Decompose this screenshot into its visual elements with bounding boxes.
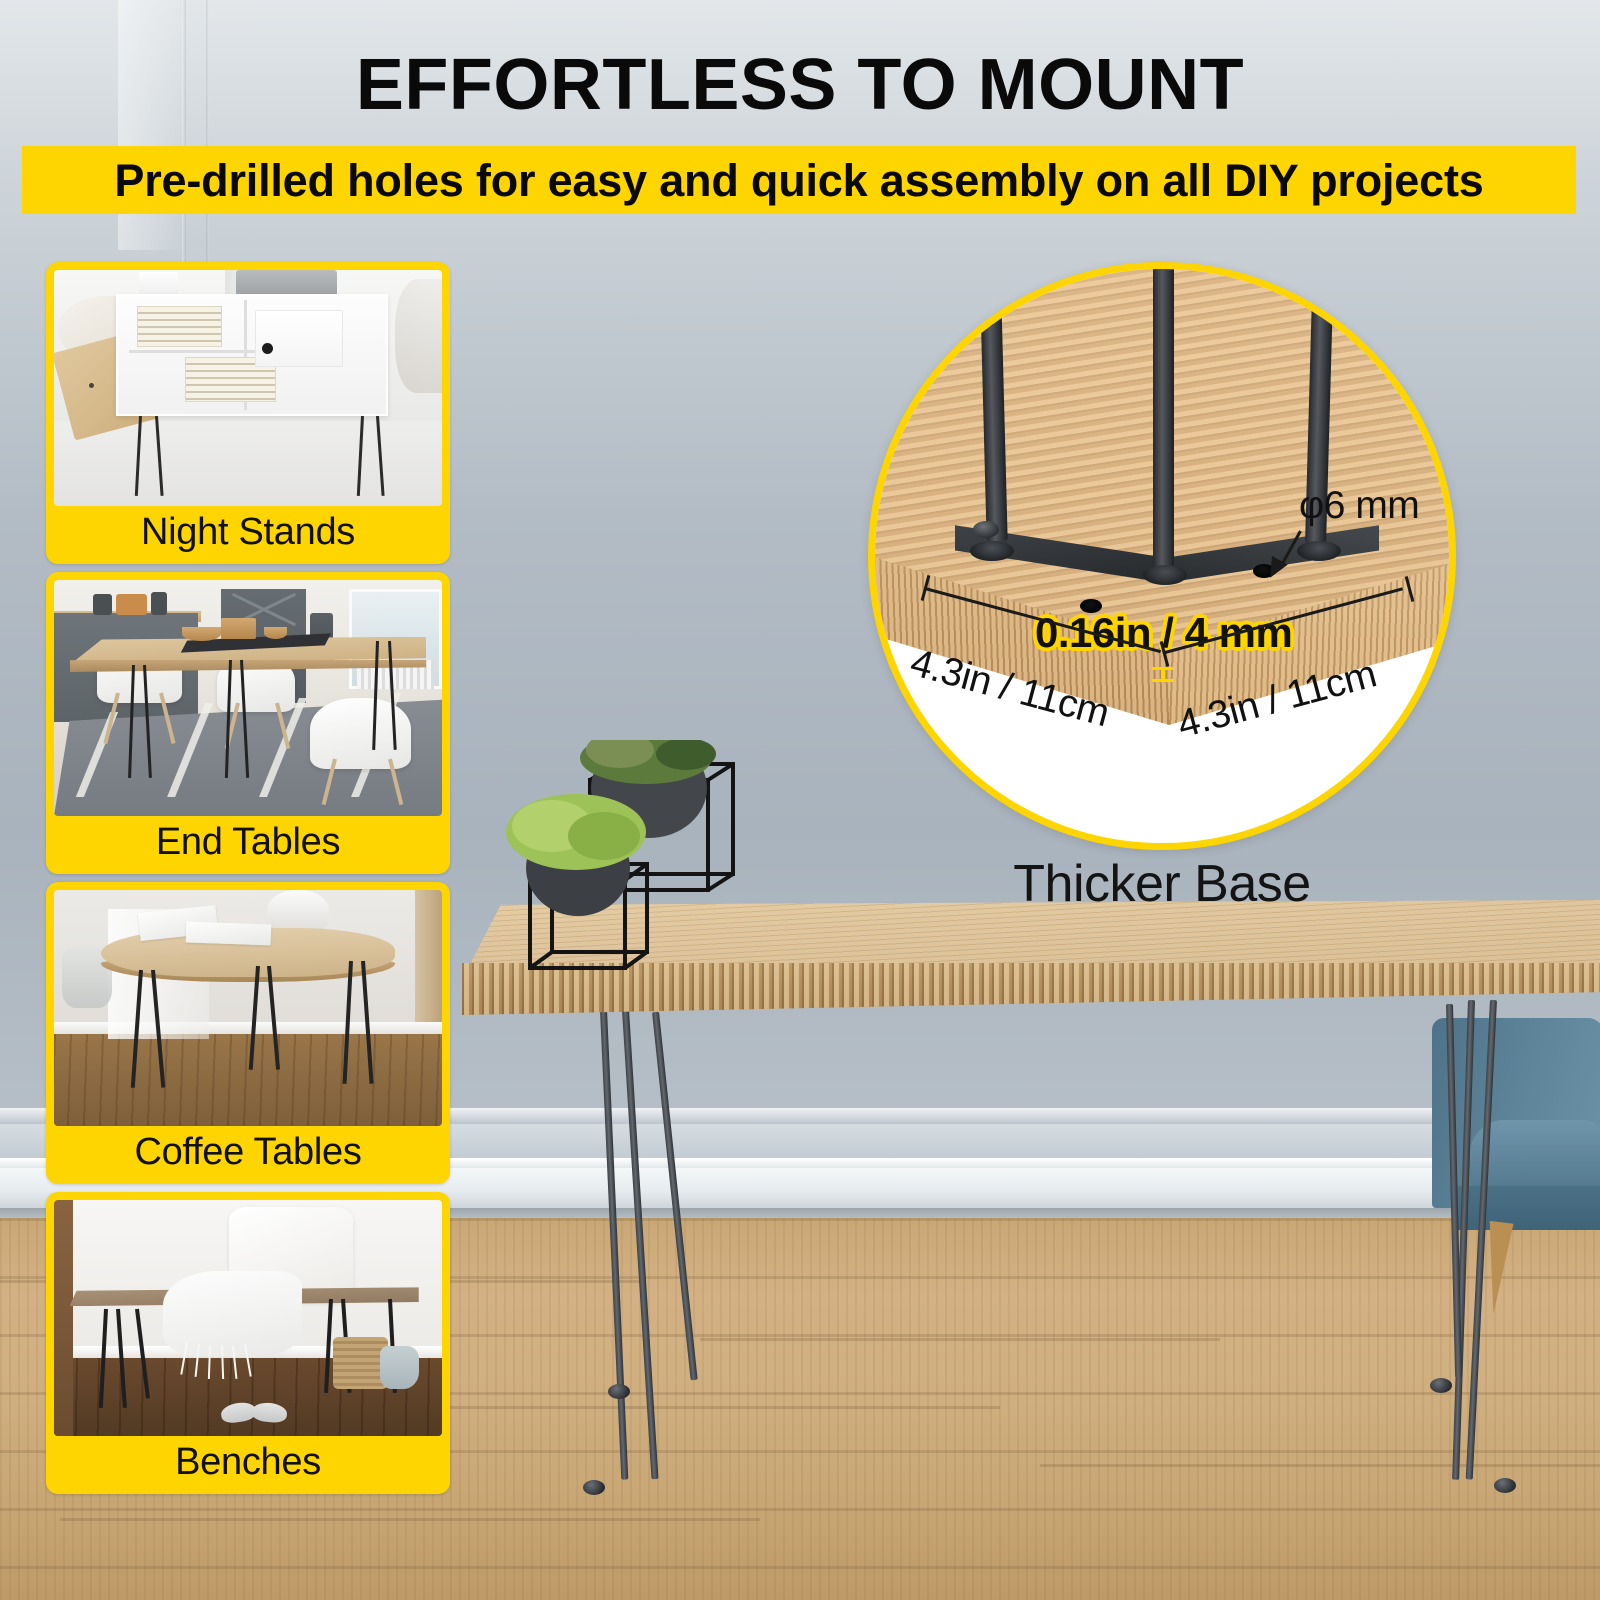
use-case-thumbnail-list: Night Stands (46, 262, 450, 1502)
nightstand-photo (54, 270, 442, 506)
slab-coffee-table-photo (54, 890, 442, 1126)
use-case-label: Benches (54, 1436, 442, 1494)
armchair-arm (1470, 1120, 1600, 1194)
page-title: EFFORTLESS TO MOUNT (0, 44, 1600, 126)
thickness-indicator (1152, 667, 1174, 683)
dining-table-photo (54, 580, 442, 816)
weld-joint (970, 541, 1014, 561)
subtitle-text: Pre-drilled holes for easy and quick ass… (114, 158, 1483, 203)
weld-joint (1143, 565, 1187, 585)
hole-diameter-label: φ6 mm (1299, 484, 1419, 528)
magnifier-caption: Thicker Base (868, 854, 1456, 914)
use-case-label: Coffee Tables (54, 1126, 442, 1184)
base-detail-magnifier: φ6 mm 0.16in / 4 mm 4.3in / 11cm 4.3in /… (868, 262, 1456, 850)
hairpin-rod (1153, 262, 1174, 575)
use-case-card-end-tables[interactable]: End Tables (46, 572, 450, 874)
use-case-card-coffee-tables[interactable]: Coffee Tables (46, 882, 450, 1184)
mounting-screw (973, 521, 999, 538)
use-case-card-night-stands[interactable]: Night Stands (46, 262, 450, 564)
weld-joint (1297, 541, 1341, 561)
use-case-card-benches[interactable]: Benches (46, 1192, 450, 1494)
subtitle-banner: Pre-drilled holes for easy and quick ass… (22, 146, 1576, 214)
armchair-seat (1452, 1186, 1600, 1230)
entry-bench-photo (54, 1200, 442, 1436)
use-case-label: Night Stands (54, 506, 442, 564)
use-case-label: End Tables (54, 816, 442, 874)
